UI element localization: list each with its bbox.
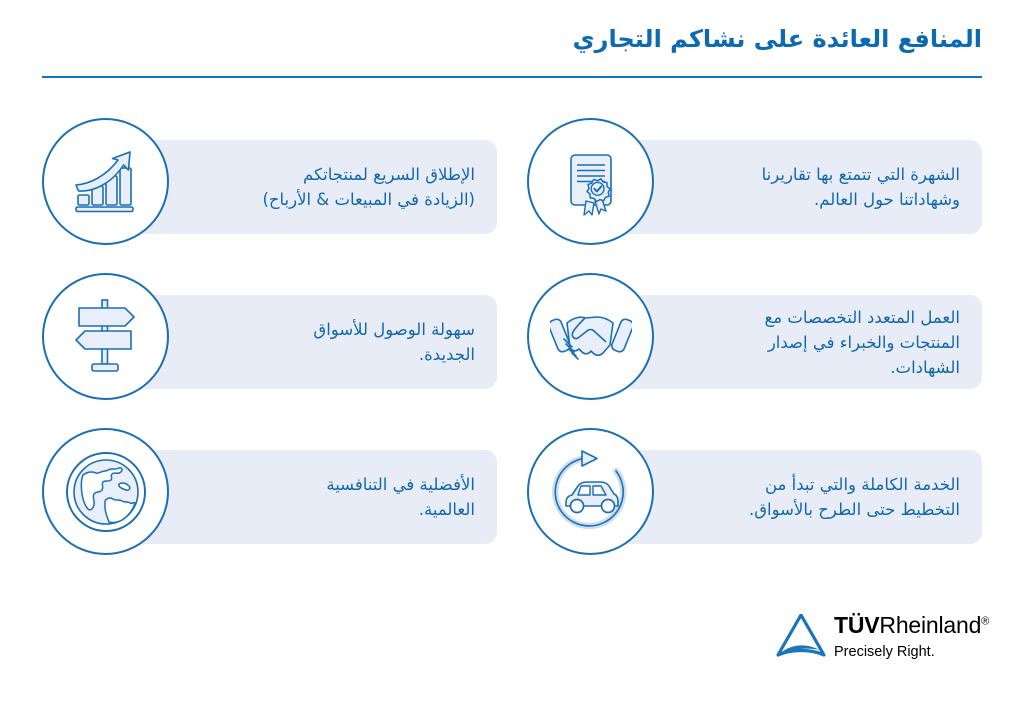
benefit-text: الأفضلية في التنافسية العالمية. xyxy=(188,472,475,522)
handshake-icon xyxy=(550,301,632,373)
globe-icon xyxy=(61,447,151,537)
benefits-grid: الشهرة التي تتمتع بها تقاريرنا وشهاداتنا… xyxy=(42,118,982,565)
benefit-icon-circle xyxy=(42,118,169,245)
benefit-text: سهولة الوصول للأسواق الجديدة. xyxy=(188,317,475,367)
benefit-textbox: الشهرة التي تتمتع بها تقاريرنا وشهاداتنا… xyxy=(615,140,982,234)
header-divider xyxy=(42,76,982,78)
signpost-icon xyxy=(67,296,145,378)
benefit-row: العمل المتعدد التخصصات مع المنتجات والخب… xyxy=(42,273,982,410)
benefit-text: الشهرة التي تتمتع بها تقاريرنا وشهاداتنا… xyxy=(673,162,960,212)
benefit-row: الشهرة التي تتمتع بها تقاريرنا وشهاداتنا… xyxy=(42,118,982,255)
benefit-item-full-service[interactable]: الخدمة الكاملة والتي تبدأ من التخطيط حتى… xyxy=(527,428,982,565)
page-header: المنافع العائدة على نشاكم التجاري xyxy=(42,22,982,78)
brand-word-rheinland: Rheinland xyxy=(879,612,981,638)
tuv-triangle-mark-icon xyxy=(776,614,826,662)
benefit-icon-circle xyxy=(527,118,654,245)
benefit-text: العمل المتعدد التخصصات مع المنتجات والخب… xyxy=(673,305,960,380)
brand-word-tuv: TÜV xyxy=(834,612,879,638)
brand-wordmark: TÜVRheinland® xyxy=(834,612,989,639)
benefit-icon-circle xyxy=(527,428,654,555)
benefit-textbox: الخدمة الكاملة والتي تبدأ من التخطيط حتى… xyxy=(615,450,982,544)
car-lifecycle-icon xyxy=(548,449,634,535)
benefit-text: الإطلاق السريع لمنتجاتكم (الزيادة في الم… xyxy=(188,162,475,212)
growth-chart-icon xyxy=(68,144,144,220)
brand-tagline: Precisely Right. xyxy=(834,644,935,660)
benefit-textbox: سهولة الوصول للأسواق الجديدة. xyxy=(130,295,497,389)
benefit-item-market-access[interactable]: سهولة الوصول للأسواق الجديدة. xyxy=(42,273,497,410)
benefit-text: الخدمة الكاملة والتي تبدأ من التخطيط حتى… xyxy=(673,472,960,522)
benefit-textbox: الإطلاق السريع لمنتجاتكم (الزيادة في الم… xyxy=(130,140,497,234)
benefit-item-reputation[interactable]: الشهرة التي تتمتع بها تقاريرنا وشهاداتنا… xyxy=(527,118,982,255)
benefit-textbox: العمل المتعدد التخصصات مع المنتجات والخب… xyxy=(615,295,982,389)
benefit-row: الخدمة الكاملة والتي تبدأ من التخطيط حتى… xyxy=(42,428,982,565)
benefit-item-fast-launch[interactable]: الإطلاق السريع لمنتجاتكم (الزيادة في الم… xyxy=(42,118,497,255)
brand-logo: TÜVRheinland® Precisely Right. xyxy=(776,612,991,668)
registered-trademark-symbol: ® xyxy=(981,615,989,627)
benefit-icon-circle xyxy=(42,428,169,555)
certificate-icon xyxy=(554,145,628,219)
benefit-icon-circle xyxy=(42,273,169,400)
benefit-item-competitive-edge[interactable]: الأفضلية في التنافسية العالمية. xyxy=(42,428,497,565)
benefit-textbox: الأفضلية في التنافسية العالمية. xyxy=(130,450,497,544)
page-title: المنافع العائدة على نشاكم التجاري xyxy=(42,22,982,56)
benefit-item-multidisciplinary[interactable]: العمل المتعدد التخصصات مع المنتجات والخب… xyxy=(527,273,982,410)
benefit-icon-circle xyxy=(527,273,654,400)
